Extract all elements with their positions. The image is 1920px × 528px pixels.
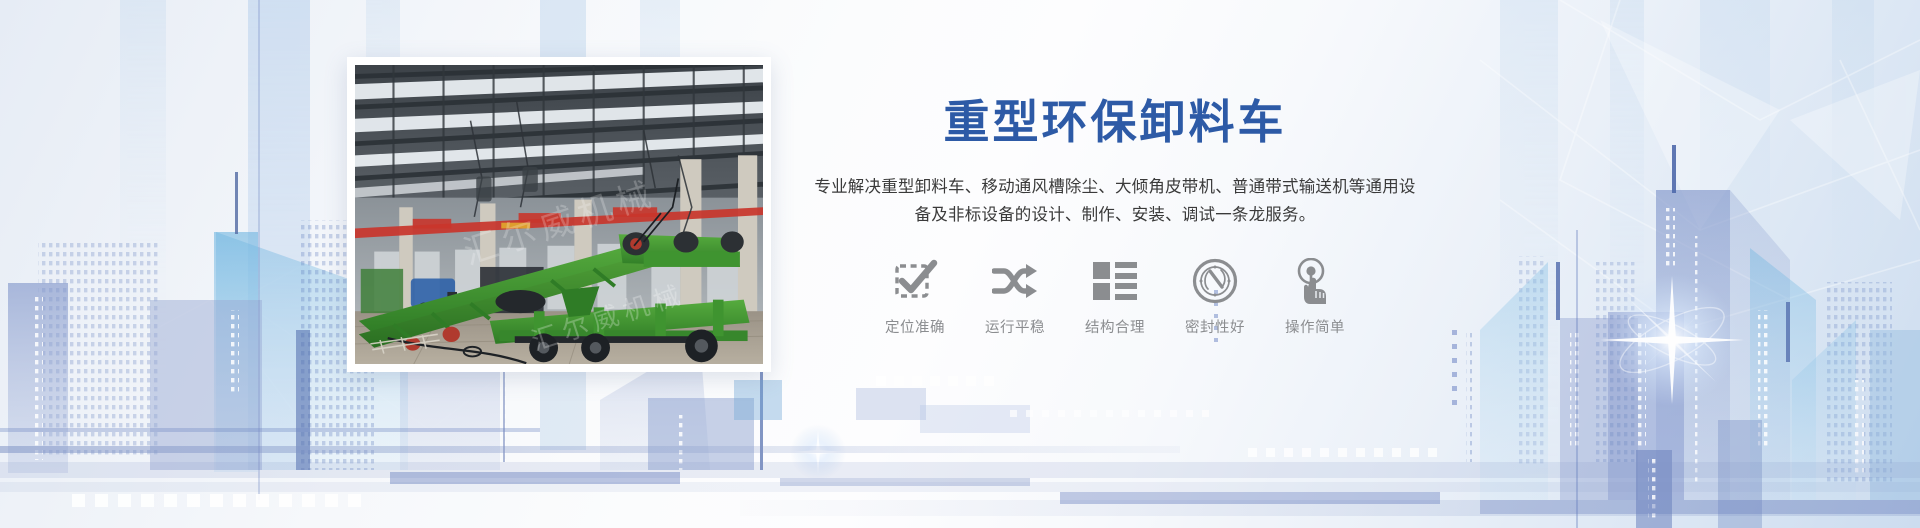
feature-label: 操作简单 — [1285, 316, 1345, 337]
feature-item-sealing[interactable]: 密封性好 — [1176, 256, 1254, 337]
product-photo-image: 汇尔威机械 汇尔威机械 — [355, 65, 763, 364]
feature-item-easy-operation[interactable]: 操作简单 — [1276, 256, 1354, 337]
feature-label: 运行平稳 — [985, 316, 1045, 337]
feature-item-structure[interactable]: 结构合理 — [1076, 256, 1154, 337]
feature-list: 定位准确 运行平稳 — [810, 256, 1420, 337]
touch-hand-icon — [1290, 256, 1340, 306]
feature-label: 定位准确 — [885, 316, 945, 337]
banner-description: 专业解决重型卸料车、移动通风槽除尘、大倾角皮带机、普通带式输送机等通用设备及非标… — [810, 173, 1420, 230]
product-banner: 汇尔威机械 汇尔威机械 重型环保卸料车 专业解决重型卸料车、移动通风槽除尘、大倾… — [0, 0, 1920, 528]
product-photo[interactable]: 汇尔威机械 汇尔威机械 — [347, 57, 771, 372]
page-title: 重型环保卸料车 — [810, 96, 1420, 149]
shuffle-arrows-icon — [990, 256, 1040, 306]
feature-item-positioning[interactable]: 定位准确 — [876, 256, 954, 337]
gauge-seal-icon — [1190, 256, 1240, 306]
dashed-check-icon — [890, 256, 940, 306]
banner-content: 重型环保卸料车 专业解决重型卸料车、移动通风槽除尘、大倾角皮带机、普通带式输送机… — [810, 96, 1420, 337]
feature-label: 密封性好 — [1185, 316, 1245, 337]
feature-item-smooth-running[interactable]: 运行平稳 — [976, 256, 1054, 337]
grid-list-icon — [1090, 256, 1140, 306]
feature-label: 结构合理 — [1085, 316, 1145, 337]
